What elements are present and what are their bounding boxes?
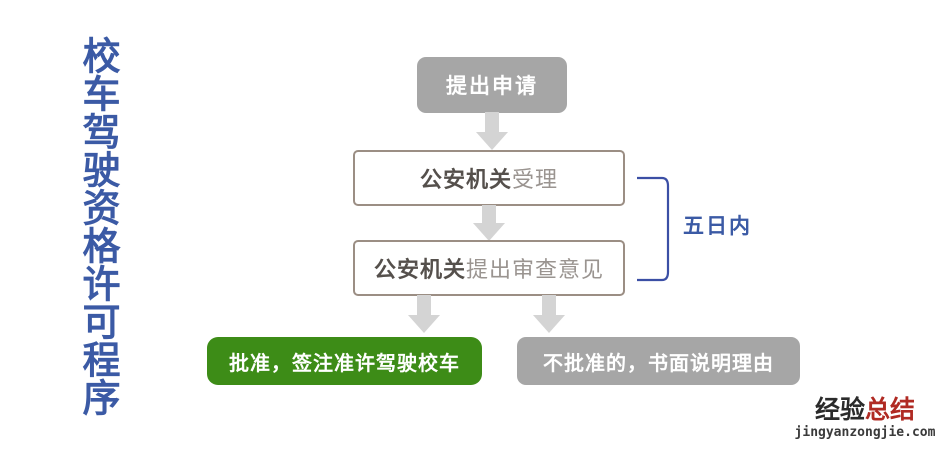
flowchart-canvas: 校车驾驶资格许可程序 提出申请 公安机关受理 公安机关提出审查意见 五日内 批准… — [0, 0, 947, 451]
node-police-review-opinion-label-strong: 公安机关 — [374, 257, 466, 282]
watermark-url: jingyanzongjie.com — [786, 426, 944, 439]
arrow-down-icon — [529, 295, 569, 335]
node-submit-application-label: 提出申请 — [446, 70, 538, 100]
node-police-review-opinion-label: 公安机关提出审查意见 — [374, 252, 604, 284]
node-approve-endorse-label: 批准，签注准许驾驶校车 — [229, 347, 460, 376]
node-reject-written-reason-label: 不批准的，书面说明理由 — [543, 347, 774, 376]
arrow-down-icon — [472, 112, 512, 152]
node-police-review-opinion-label-light: 提出审查意见 — [466, 257, 604, 282]
watermark: 经验总结 jingyanzongjie.com — [786, 398, 944, 439]
node-police-accept-label: 公安机关受理 — [420, 162, 558, 194]
node-police-review-opinion: 公安机关提出审查意见 — [353, 240, 625, 296]
arrow-down-icon — [404, 295, 444, 335]
node-police-accept-label-light: 受理 — [512, 167, 558, 192]
watermark-brand: 经验总结 — [786, 398, 944, 423]
duration-bracket — [636, 176, 672, 282]
node-submit-application: 提出申请 — [417, 57, 567, 113]
chart-vertical-title: 校车驾驶资格许可程序 — [60, 36, 116, 426]
watermark-brand-dark: 经验 — [815, 396, 865, 424]
watermark-brand-red: 总结 — [865, 396, 915, 424]
duration-bracket-label: 五日内 — [683, 210, 752, 240]
arrow-down-icon — [469, 205, 509, 245]
node-police-accept: 公安机关受理 — [353, 150, 625, 206]
node-reject-written-reason: 不批准的，书面说明理由 — [517, 337, 800, 385]
node-police-accept-label-strong: 公安机关 — [420, 167, 512, 192]
node-approve-endorse: 批准，签注准许驾驶校车 — [207, 337, 482, 385]
